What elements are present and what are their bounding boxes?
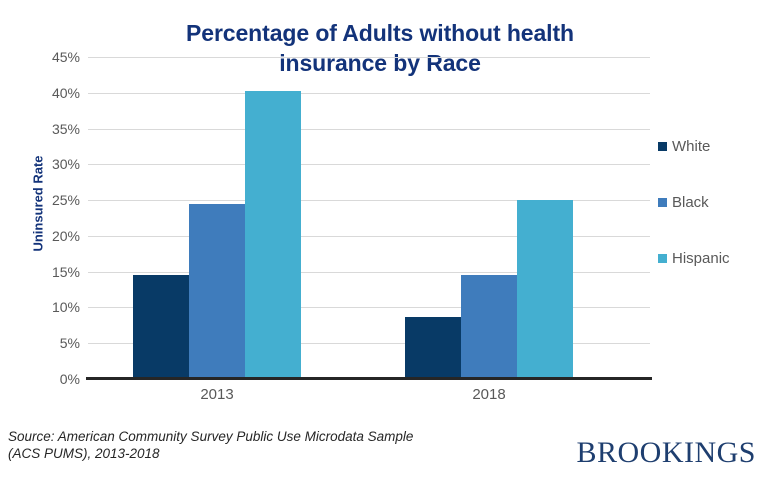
legend-label-white: White [672,138,710,155]
legend-item-black[interactable]: Black [658,194,709,211]
y-tick-label: 10% [20,299,80,315]
bar-black-2013 [189,204,245,379]
bar-white-2018 [405,317,461,379]
x-axis-line [86,377,652,380]
y-tick-label: 15% [20,264,80,280]
source-line-2: (ACS PUMS), 2013-2018 [8,445,413,462]
y-tick-label: 35% [20,121,80,137]
legend-swatch-white [658,142,667,151]
y-tick-label: 5% [20,335,80,351]
y-tick-label: 25% [20,192,80,208]
y-tick-label: 0% [20,371,80,387]
bar-white-2013 [133,275,189,379]
legend-label-black: Black [672,194,709,211]
gridline [88,129,650,130]
legend-item-white[interactable]: White [658,138,710,155]
chart-title-line-1: Percentage of Adults without health [110,18,650,48]
x-tick-label-2018: 2018 [399,386,579,403]
legend-swatch-hispanic [658,254,667,263]
gridline [88,93,650,94]
legend-swatch-black [658,198,667,207]
source-line-1: Source: American Community Survey Public… [8,428,413,445]
gridline [88,57,650,58]
legend-label-hispanic: Hispanic [672,250,730,267]
y-tick-label: 30% [20,156,80,172]
source-note: Source: American Community Survey Public… [8,428,413,462]
brookings-logo: BROOKINGS [576,436,756,470]
gridline [88,164,650,165]
bar-black-2018 [461,275,517,379]
plot-area [88,57,650,379]
x-tick-label-2013: 2013 [127,386,307,403]
y-tick-label: 45% [20,49,80,65]
y-tick-label: 20% [20,228,80,244]
y-tick-label: 40% [20,85,80,101]
y-axis-tick-labels: 45%40%35%30%25%20%15%10%5%0% [14,57,80,379]
chart-figure: Percentage of Adults without health insu… [0,0,768,478]
bar-hispanic-2018 [517,200,573,379]
legend-item-hispanic[interactable]: Hispanic [658,250,730,267]
bar-hispanic-2013 [245,91,301,379]
